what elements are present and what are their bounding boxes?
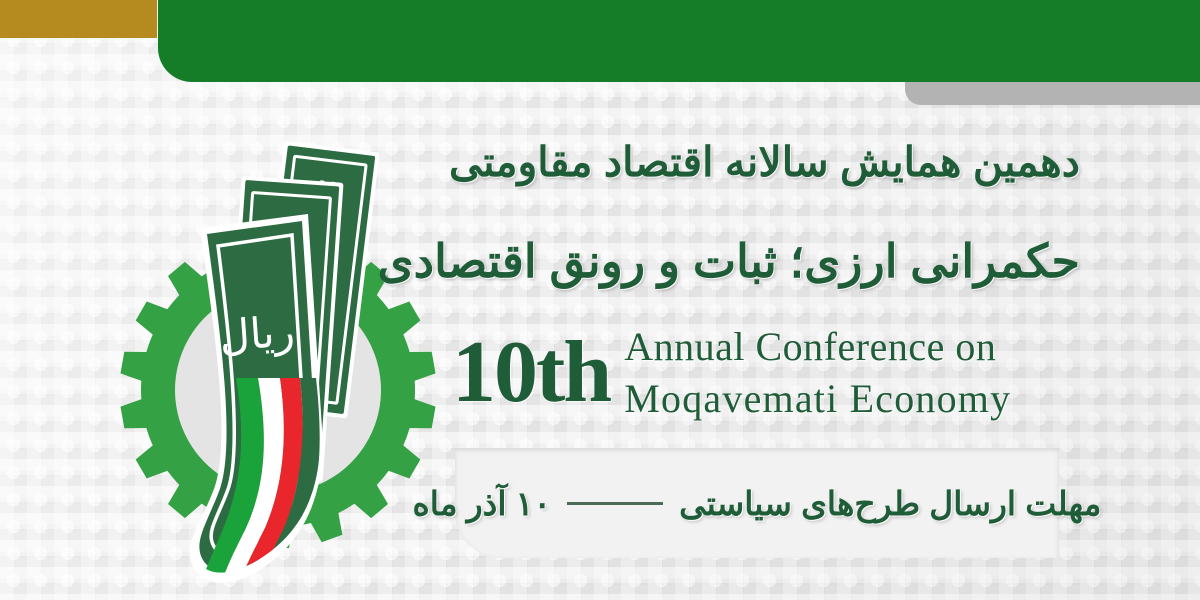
conference-logo: ¥ € — [108, 128, 448, 600]
english-title-line-2: Moqavemati Economy — [624, 373, 1011, 425]
deadline-banner: مهلت ارسال طرح‌های سیاستی ۱۰ آذر ماه — [455, 448, 1059, 558]
edition-ordinal: 10th — [452, 330, 610, 416]
rial-symbol: ریال — [218, 309, 296, 361]
persian-title-line-1: دهمین همایش سالانه اقتصاد مقاومتی — [449, 135, 1080, 189]
title-block: دهمین همایش سالانه اقتصاد مقاومتی حکمران… — [440, 135, 1080, 435]
deadline-divider-rule — [567, 502, 663, 505]
green-header-bar — [158, 0, 1200, 82]
deadline-label: مهلت ارسال طرح‌های سیاستی — [679, 484, 1101, 523]
persian-title-line-2: حکمرانی ارزی؛ ثبات و رونق اقتصادی — [378, 231, 1080, 291]
english-title-line-1: Annual Conference on — [624, 321, 1011, 373]
gold-accent-bar — [0, 0, 157, 38]
deadline-date: ۱۰ آذر ماه — [413, 484, 552, 523]
conference-banner: ¥ € — [0, 0, 1200, 600]
english-title-lines: Annual Conference on Moqavemati Economy — [624, 321, 1011, 425]
deadline-text: مهلت ارسال طرح‌های سیاستی ۱۰ آذر ماه — [413, 484, 1102, 523]
gray-shadow-bar — [905, 82, 1200, 105]
english-title-lockup: 10th Annual Conference on Moqavemati Eco… — [452, 321, 1011, 425]
